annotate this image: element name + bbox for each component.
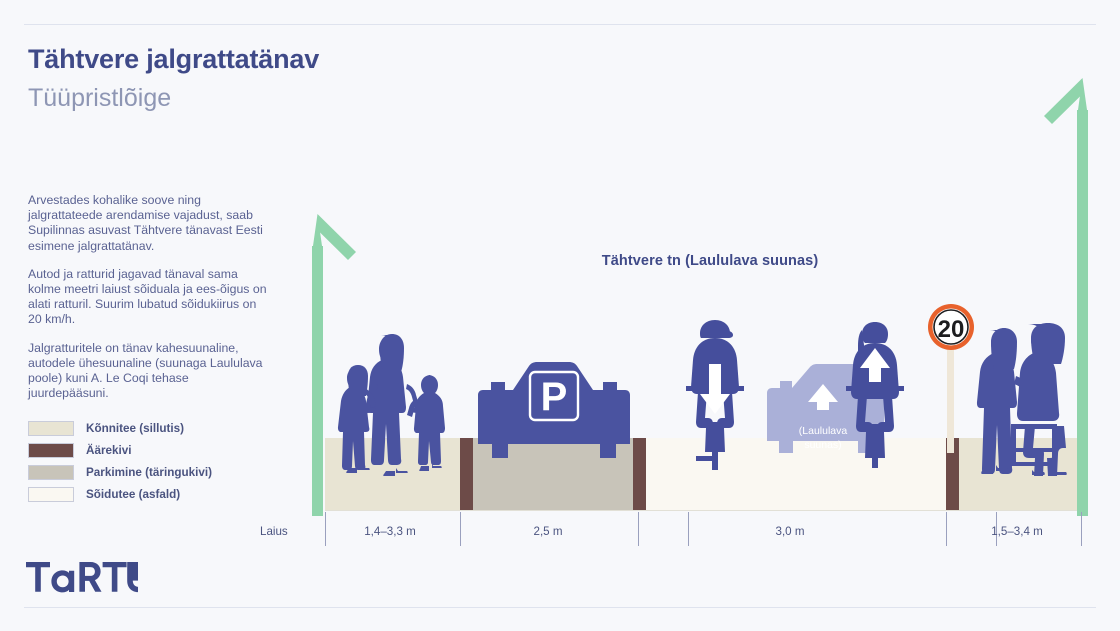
- direction-note-line1: (Laululava: [799, 425, 848, 437]
- width-measurement-row: Laius 1,4–3,3 m 2,5 m 3,0 m 1,5–3,4 m: [260, 512, 1090, 550]
- measure-tick-2: [460, 512, 461, 546]
- cyclist-icon: [684, 318, 746, 474]
- measure-tick-5: [946, 512, 947, 546]
- measure-label-sidewalk-right: 1,5–3,4 m: [991, 525, 1043, 538]
- parking-sign-letter: P: [541, 375, 568, 419]
- ground-baseline: [325, 510, 1081, 511]
- infographic-page: Tähtvere jalgrattatänav Tüüpristlõige Ar…: [0, 0, 1120, 631]
- speed-limit-sign-icon: 20: [926, 303, 976, 458]
- wheelchair-group-icon: [978, 322, 1084, 480]
- parked-car-icon: P: [467, 360, 639, 472]
- speed-limit-value: 20: [938, 316, 965, 343]
- pedestrian-family-icon: [336, 332, 456, 478]
- measure-label-roadway: 3,0 m: [776, 525, 805, 538]
- measure-tick-7: [1081, 512, 1082, 546]
- measure-row-label: Laius: [260, 525, 288, 538]
- measure-tick-4: [688, 512, 689, 546]
- cyclist-icon-second: [845, 320, 905, 472]
- measure-tick-1: [325, 512, 326, 546]
- cross-section-diagram: Tähtvere tn (Laululava suunas): [0, 0, 1120, 631]
- direction-note-line2: suunas): [804, 439, 841, 451]
- measure-tick-3: [638, 512, 639, 546]
- measure-label-sidewalk-left: 1,4–3,3 m: [364, 525, 416, 538]
- street-name-label: Tähtvere tn (Laululava suunas): [560, 253, 860, 269]
- measure-label-parking: 2,5 m: [534, 525, 563, 538]
